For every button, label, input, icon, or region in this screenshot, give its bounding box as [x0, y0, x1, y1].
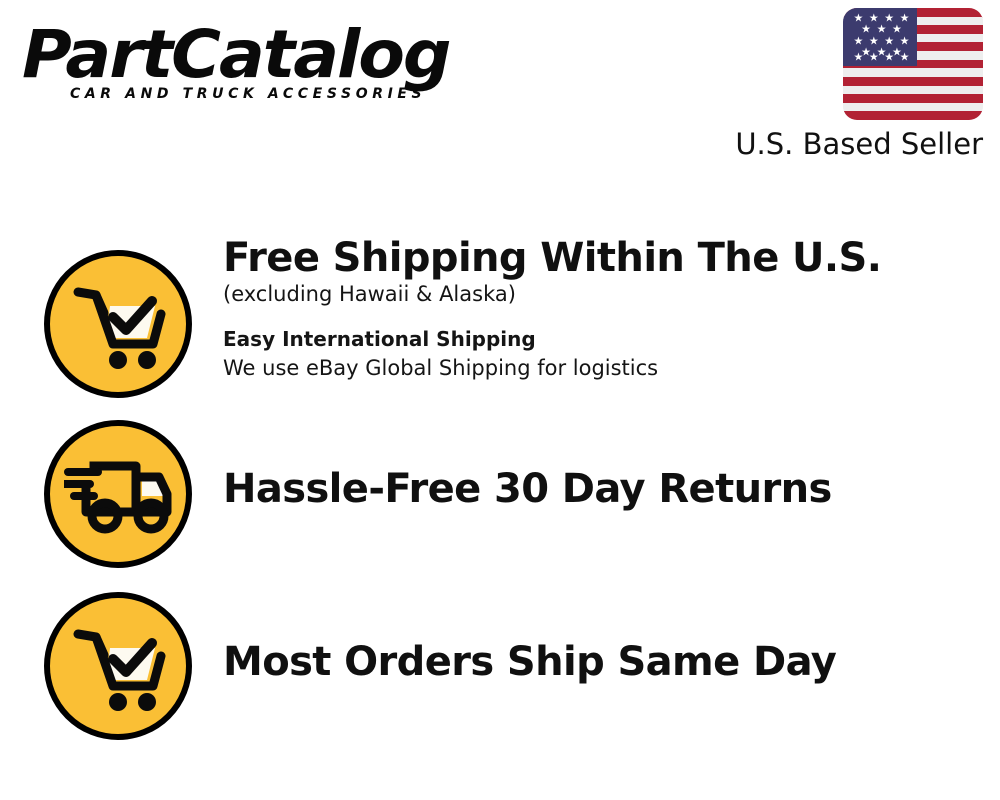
feature-subtext: We use eBay Global Shipping for logistic…	[223, 354, 881, 383]
feature-text-block: Most Orders Ship Same Day	[223, 640, 836, 684]
feature-row: Most Orders Ship Same Day	[0, 592, 1000, 747]
feature-row: Free Shipping Within The U.S. (excluding…	[0, 236, 1000, 406]
shopping-cart-check-icon	[44, 250, 192, 398]
shopping-cart-check-icon	[44, 592, 192, 740]
feature-subheading: Easy International Shipping	[223, 325, 881, 354]
feature-text-block: Hassle-Free 30 Day Returns	[223, 467, 832, 511]
feature-title: Hassle-Free 30 Day Returns	[223, 467, 832, 511]
promo-banner: PartCatalog CAR AND TRUCK ACCESSORIES ★	[0, 0, 1000, 800]
feature-text-block: Free Shipping Within The U.S. (excluding…	[223, 236, 881, 383]
feature-row: Hassle-Free 30 Day Returns	[0, 420, 1000, 575]
feature-note: (excluding Hawaii & Alaska)	[223, 280, 881, 309]
feature-list: Free Shipping Within The U.S. (excluding…	[0, 0, 1000, 800]
delivery-truck-icon	[44, 420, 192, 568]
feature-title: Free Shipping Within The U.S.	[223, 236, 881, 280]
feature-title: Most Orders Ship Same Day	[223, 640, 836, 684]
